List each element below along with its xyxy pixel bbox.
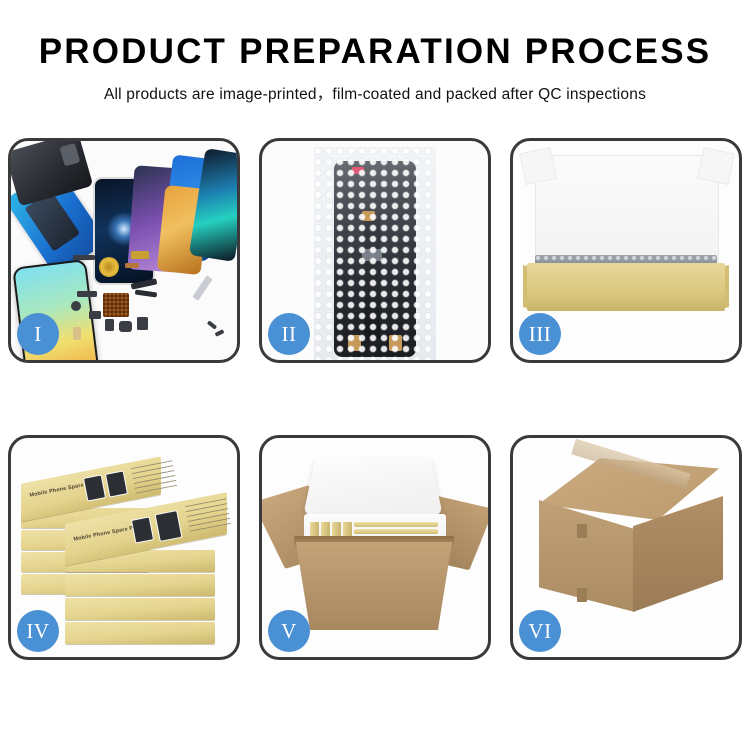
small-part-9	[119, 321, 132, 332]
small-part-10	[137, 317, 148, 330]
packed-box-h2	[354, 529, 438, 534]
step-panel-4: Mobile Phone Spare Parts Mobile Phone Sp…	[8, 435, 240, 660]
small-part-6	[89, 311, 101, 319]
carton-front-face	[539, 500, 635, 612]
foam-lid	[303, 456, 443, 515]
carton-body	[296, 542, 452, 630]
small-part-4	[77, 291, 97, 297]
step-badge-4: IV	[17, 610, 59, 652]
screw-2	[215, 329, 225, 337]
small-part-5	[71, 301, 81, 311]
step-badge-2: II	[268, 313, 310, 355]
tweezers	[192, 275, 212, 300]
carton-seam-upper	[577, 524, 587, 538]
step-panel-3: III	[510, 138, 742, 363]
step-panel-5: V	[259, 435, 491, 660]
flex-cable-2	[135, 289, 157, 297]
stack-box-f3	[65, 574, 215, 596]
bubble-texture	[314, 147, 436, 360]
step-panel-1: I	[8, 138, 240, 363]
packed-box-h1	[354, 522, 438, 527]
ic-chip-array	[103, 293, 129, 317]
page-subtitle: All products are image-printed，film-coat…	[0, 82, 750, 104]
step-panel-2: II	[259, 138, 491, 363]
speaker-coil-part	[99, 257, 119, 277]
header: PRODUCT PREPARATION PROCESS All products…	[0, 0, 750, 104]
small-part-2	[131, 251, 149, 259]
steps-grid: I II	[8, 138, 742, 698]
stack-box-f4	[65, 598, 215, 620]
page-title: PRODUCT PREPARATION PROCESS	[0, 34, 750, 69]
step-badge-5: V	[268, 610, 310, 652]
step-badge-3: III	[519, 313, 561, 355]
yellow-box-base	[527, 263, 725, 311]
small-part-7	[105, 319, 114, 331]
phone-back-housing	[11, 141, 93, 206]
bubble-wrap-bag	[314, 147, 436, 360]
carton-seam-lower	[577, 588, 587, 602]
step-panel-6: VI	[510, 435, 742, 660]
screw-1	[207, 320, 217, 329]
step-badge-1: I	[17, 313, 59, 355]
stack-box-f5	[65, 622, 215, 644]
product-preparation-infographic: PRODUCT PREPARATION PROCESS All products…	[0, 0, 750, 750]
small-part-3	[125, 263, 139, 268]
small-part-1	[73, 255, 95, 260]
small-part-8	[73, 327, 81, 340]
step-badge-6: VI	[519, 610, 561, 652]
